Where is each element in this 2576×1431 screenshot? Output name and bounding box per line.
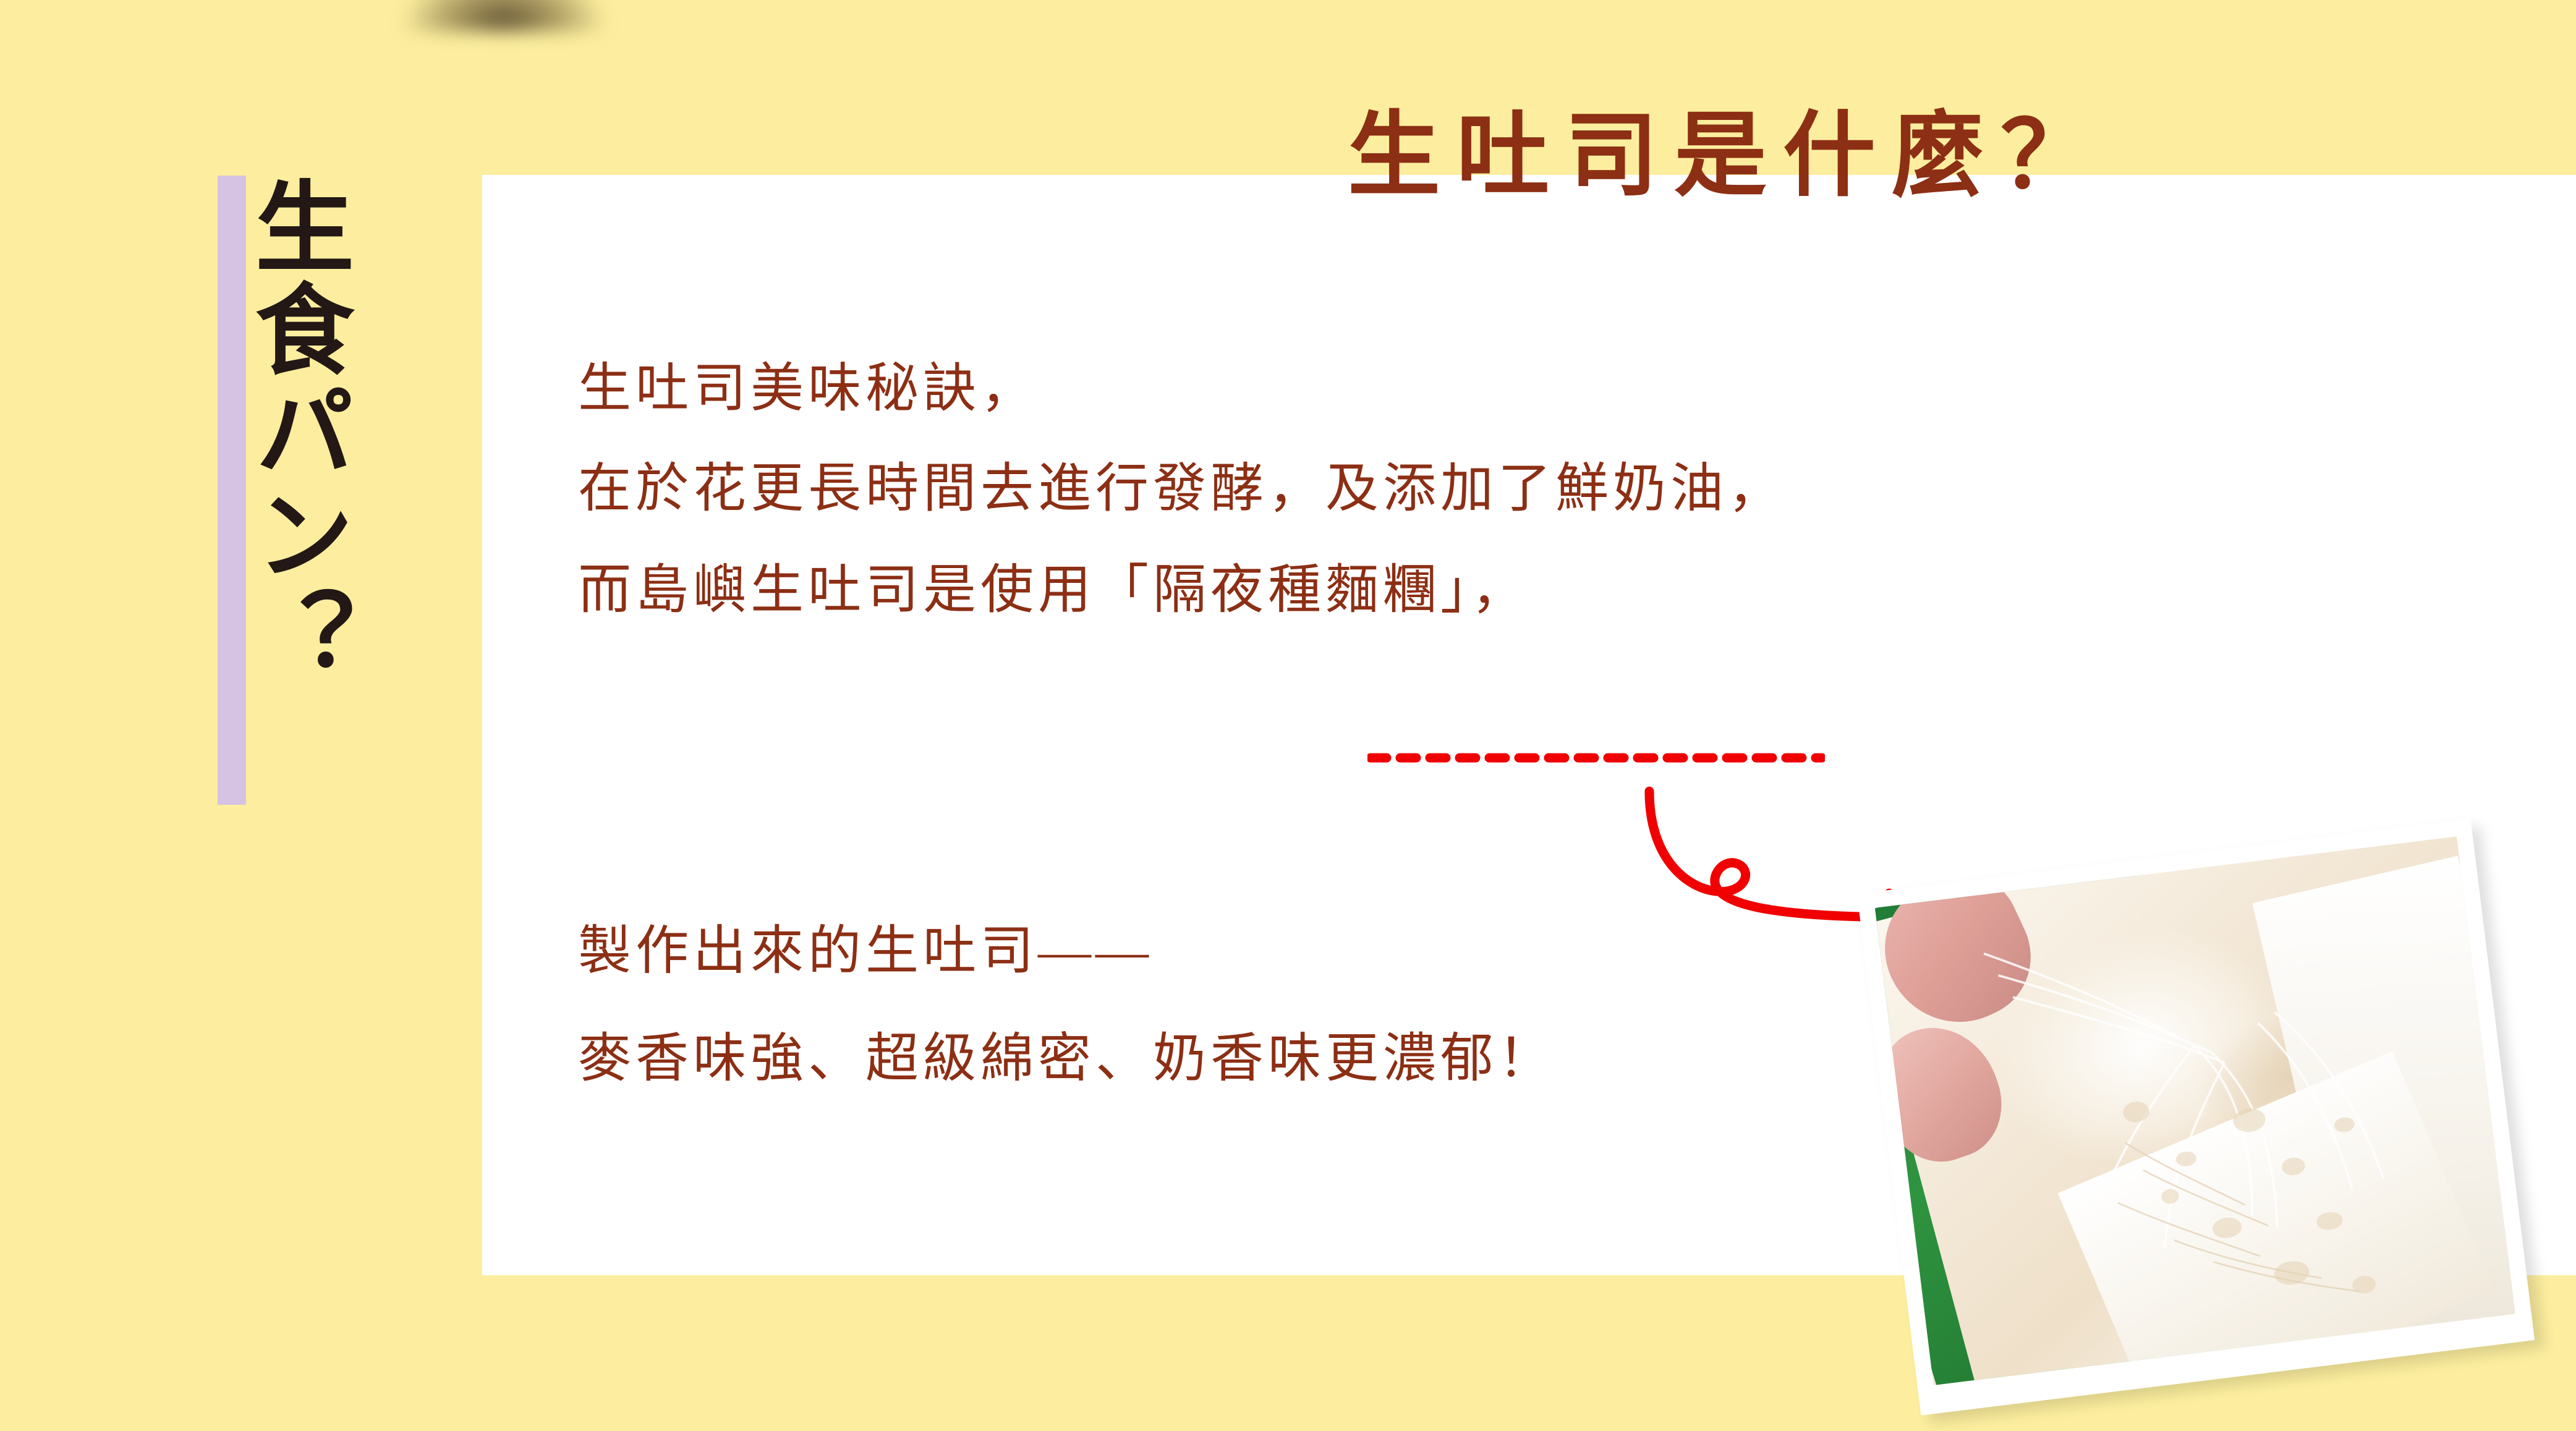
body-line: 生吐司美味秘訣， <box>578 362 2123 430</box>
body-line: 在於花更長時間去進行發酵，及添加了鮮奶油， <box>578 462 2123 530</box>
dough-photo-frame <box>1857 818 2535 1416</box>
top-blur-smudge <box>402 0 606 31</box>
slide-canvas: 生食パン？ 生吐司是什麼？ 生吐司美味秘訣， 在於花更長時間去進行發酵，及添加了… <box>0 0 2576 1431</box>
body-line: 而島嶼生吐司是使用「隔夜種麵糰」， <box>578 563 2123 631</box>
body-paragraph-1: 生吐司美味秘訣， 在於花更長時間去進行發酵，及添加了鮮奶油， 而島嶼生吐司是使用… <box>578 362 2123 631</box>
dough-photo <box>1875 836 2515 1385</box>
red-dashed-underline <box>1367 753 1825 762</box>
page-title: 生吐司是什麼？ <box>1348 80 2109 214</box>
vertical-title: 生食パン？ <box>229 176 346 689</box>
photo-gluten-strands <box>1875 836 2515 1385</box>
